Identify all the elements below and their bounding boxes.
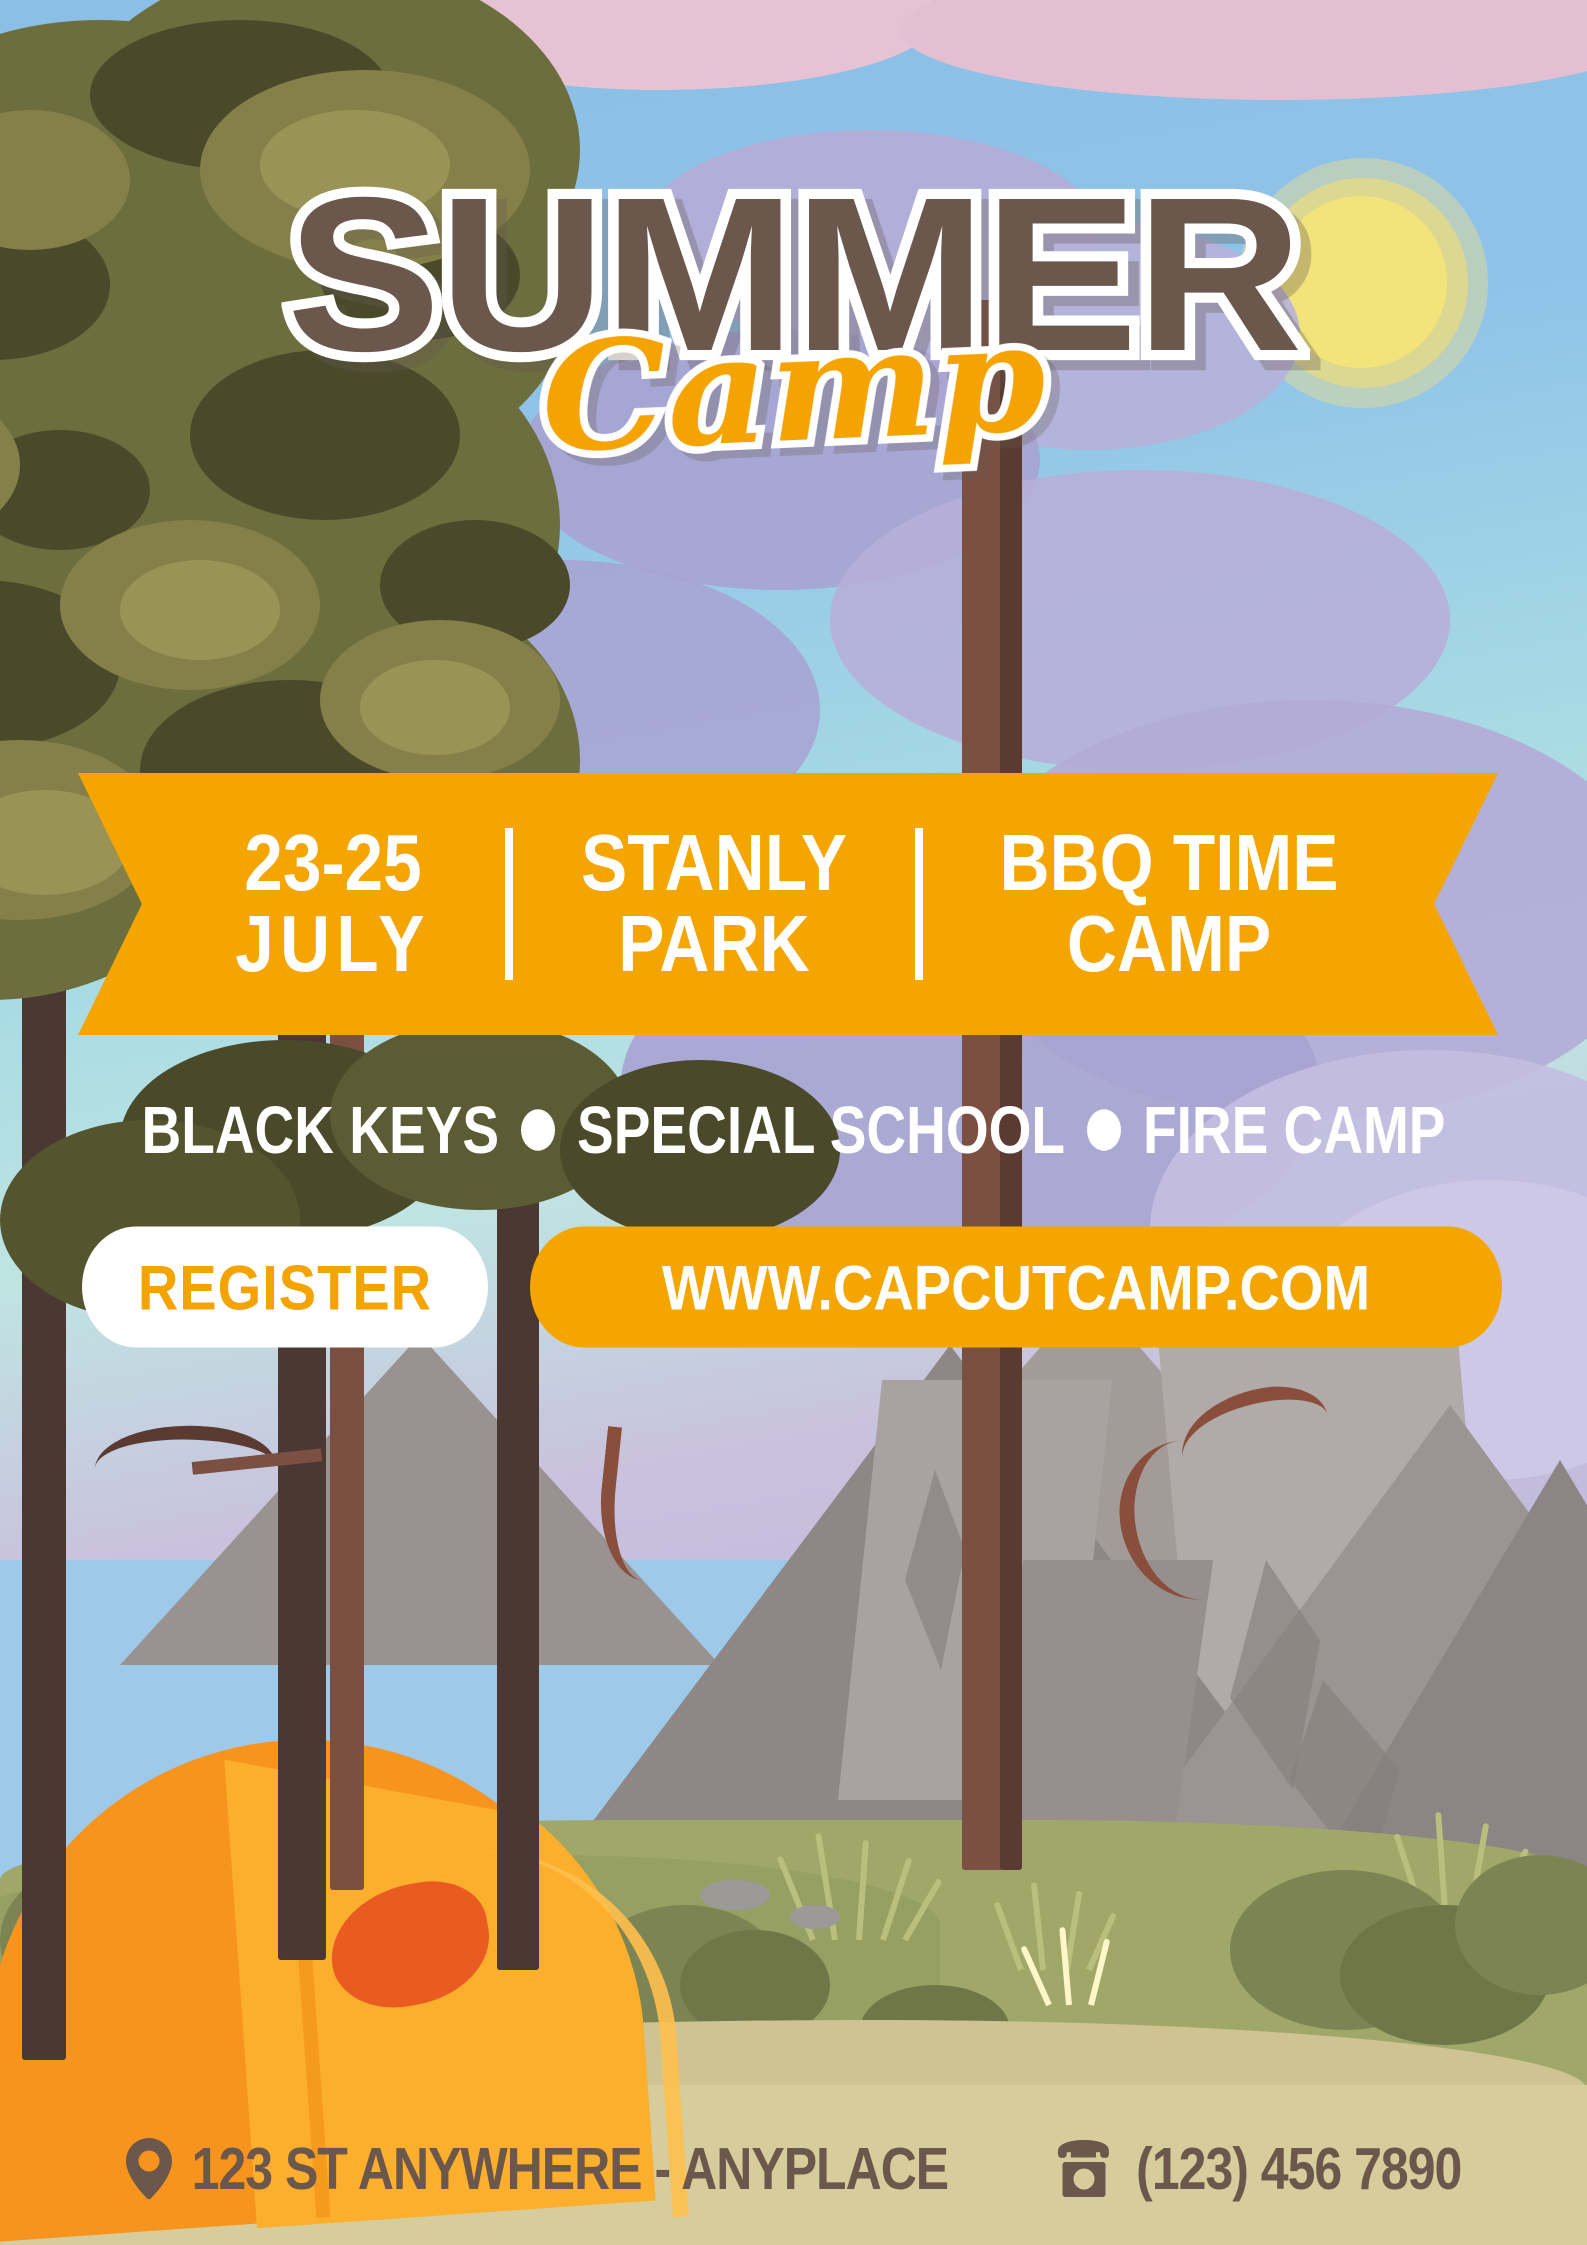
event-info-ribbon: 23-25 JULY STANLY PARK BBQ TIME CAMP <box>78 773 1498 1035</box>
ribbon-theme-line1: BBQ TIME <box>955 822 1383 904</box>
ribbon-venue-line1: STANLY <box>546 822 883 904</box>
footer-address: 123 ST ANYWHERE - ANYPLACE <box>126 2138 949 2200</box>
ribbon-divider <box>505 828 513 980</box>
features-line: BLACK KEYS SPECIAL SCHOOL FIRE CAMP <box>0 1091 1587 1169</box>
location-pin-icon <box>126 2138 172 2200</box>
contact-footer: 123 ST ANYWHERE - ANYPLACE (123) 456 789… <box>0 2092 1587 2245</box>
ribbon-date-line2: JULY <box>194 904 471 986</box>
tree-trunk <box>1000 300 1022 1870</box>
grass-tuft <box>1040 1925 1130 2005</box>
footer-phone-text: (123) 456 7890 <box>1136 2134 1461 2202</box>
register-button[interactable]: REGISTER <box>82 1227 488 1348</box>
tree-trunk <box>22 900 66 2060</box>
feature-item-3: FIRE CAMP <box>1143 1091 1446 1169</box>
pebble-shape <box>700 1880 770 1910</box>
ribbon-theme-line2: CAMP <box>955 904 1383 986</box>
feature-item-1: BLACK KEYS <box>142 1091 500 1169</box>
ribbon-date-line1: 23-25 <box>194 822 471 904</box>
bullet-separator-icon <box>1087 1109 1121 1150</box>
website-url-button[interactable]: WWW.CAPCUTCAMP.COM <box>530 1227 1502 1348</box>
footer-phone: (123) 456 7890 <box>1052 2140 1461 2198</box>
ribbon-column-theme: BBQ TIME CAMP <box>955 822 1383 986</box>
feature-item-2: SPECIAL SCHOOL <box>577 1091 1065 1169</box>
pebble-shape <box>790 1905 840 1929</box>
ribbon-venue-line2: PARK <box>546 904 883 986</box>
tree-trunk <box>962 300 1004 1870</box>
footer-address-text: 123 ST ANYWHERE - ANYPLACE <box>192 2134 949 2202</box>
summer-camp-poster: SUMMER Camp 23-25 JULY STANLY PARK BBQ T… <box>0 0 1587 2245</box>
telephone-icon <box>1052 2140 1116 2198</box>
bullet-separator-icon <box>521 1109 555 1150</box>
ribbon-divider <box>915 828 923 980</box>
cta-button-row: REGISTER WWW.CAPCUTCAMP.COM <box>82 1233 1502 1341</box>
ribbon-column-venue: STANLY PARK <box>546 822 883 986</box>
ribbon-column-date: 23-25 JULY <box>194 822 471 986</box>
